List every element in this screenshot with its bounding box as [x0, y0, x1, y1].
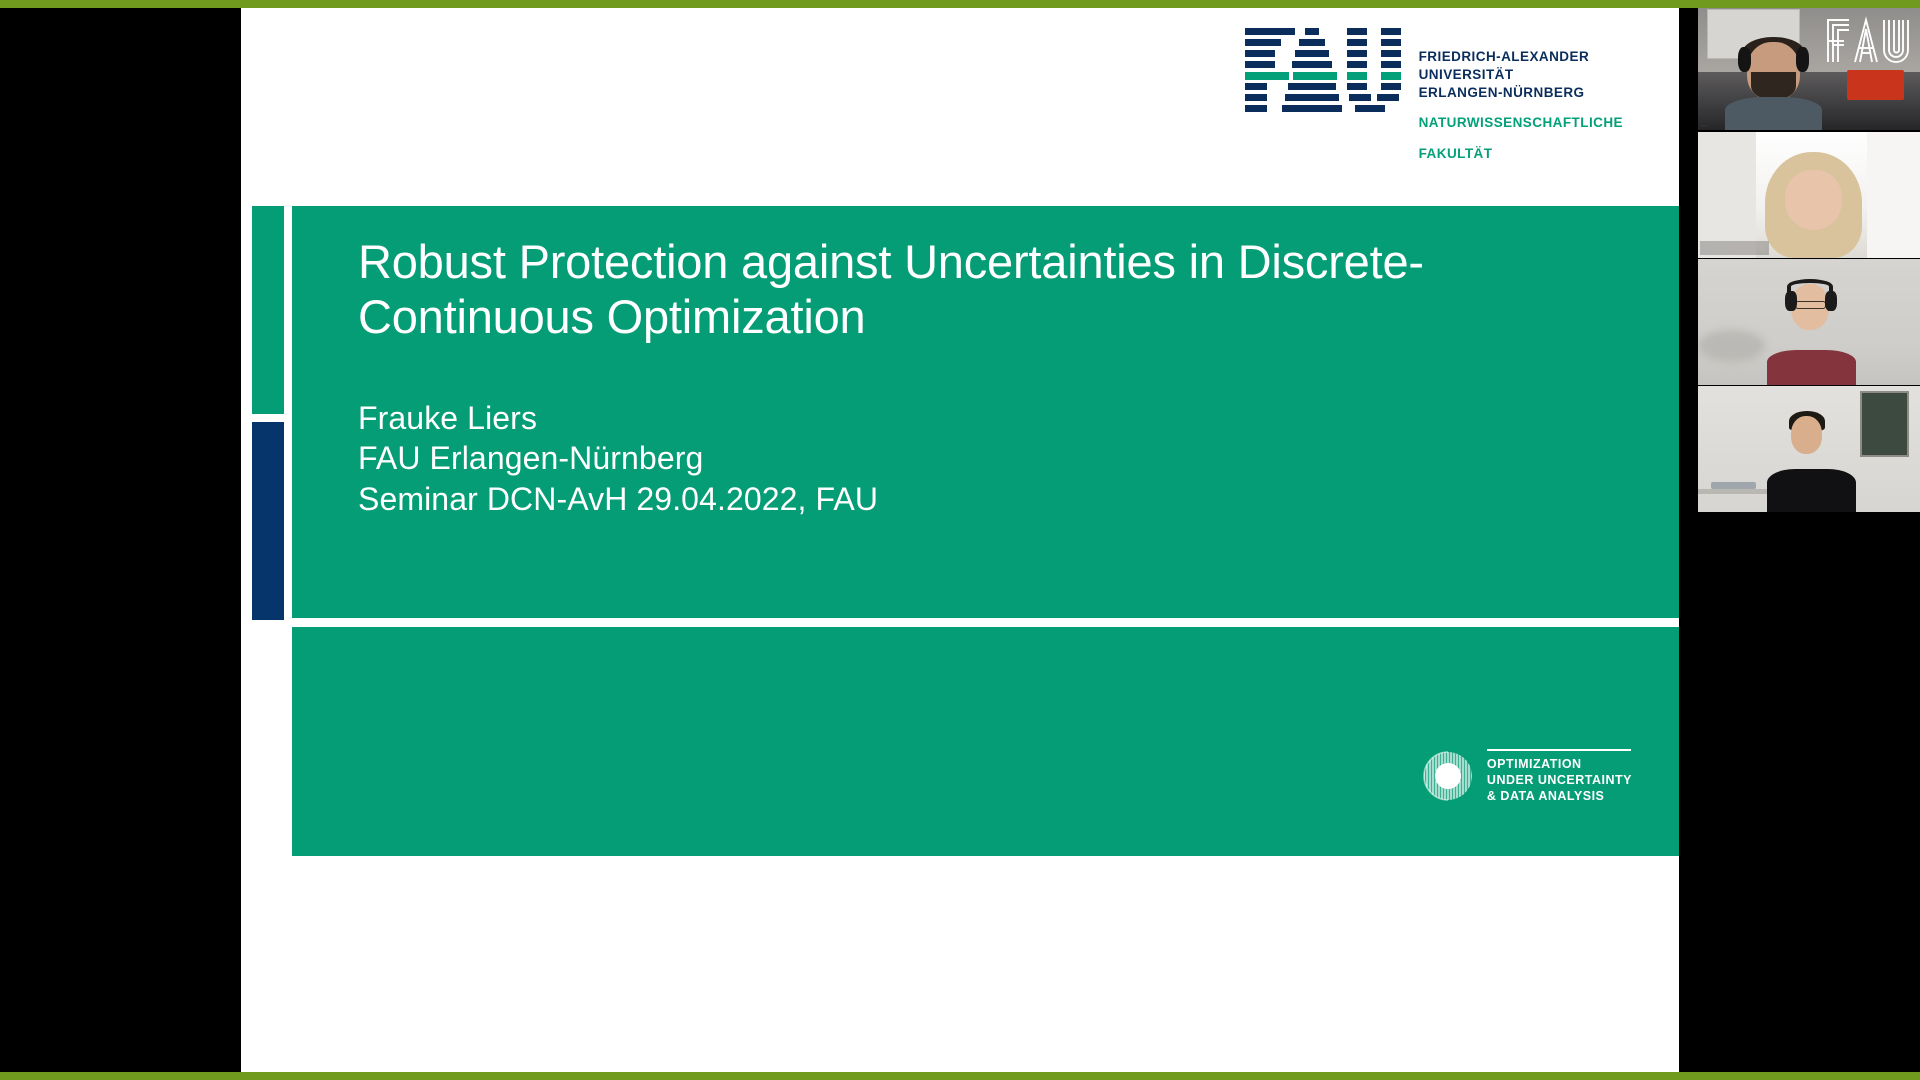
presenter-affiliation: FAU Erlangen-Nürnberg — [358, 438, 878, 478]
fau-faculty-line-1: NATURWISSENSCHAFTLICHE — [1419, 114, 1623, 132]
ouuda-line-3: & DATA ANALYSIS — [1487, 788, 1632, 804]
accent-bar-green — [252, 206, 284, 414]
window-border-top — [0, 0, 1920, 8]
ouuda-circle-icon — [1422, 750, 1474, 802]
slide-title-line-2: Continuous Optimization — [358, 289, 1643, 344]
ouuda-divider — [1487, 749, 1631, 751]
presentation-slide[interactable]: FRIEDRICH-ALEXANDER UNIVERSITÄT ERLANGEN… — [241, 8, 1679, 1072]
participant-name-label: Frauke Liers — [1700, 241, 1769, 255]
fau-striped-logo-icon — [1243, 26, 1405, 122]
fau-wordmark-line-2: UNIVERSITÄT — [1419, 66, 1623, 84]
presenter-name: Frauke Liers — [358, 398, 878, 438]
event-details: Seminar DCN-AvH 29.04.2022, FAU — [358, 479, 878, 519]
ouuda-wordmark: OPTIMIZATION UNDER UNCERTAINTY & DATA AN… — [1487, 747, 1632, 804]
participant-tile-4[interactable] — [1698, 386, 1920, 512]
participant-name-label — [1700, 125, 1708, 127]
slide-title-block: Robust Protection against Uncertainties … — [358, 234, 1643, 345]
fau-wordmark-line-3: ERLANGEN-NÜRNBERG — [1419, 84, 1623, 102]
participant-video-rail: Frauke Liers — [1698, 0, 1920, 1080]
participant-tile-1[interactable] — [1698, 4, 1920, 130]
screen-root: FRIEDRICH-ALEXANDER UNIVERSITÄT ERLANGEN… — [0, 0, 1920, 1080]
slide-author-block: Frauke Liers FAU Erlangen-Nürnberg Semin… — [358, 398, 878, 519]
participant-video-feed — [1698, 386, 1920, 512]
fau-logo: FRIEDRICH-ALEXANDER UNIVERSITÄT ERLANGEN… — [1243, 26, 1623, 163]
fau-wordmark-line-1: FRIEDRICH-ALEXANDER — [1419, 48, 1623, 66]
ouuda-line-2: UNDER UNCERTAINTY — [1487, 772, 1632, 788]
participant-tile-3[interactable] — [1698, 259, 1920, 385]
fau-faculty-line-2: FAKULTÄT — [1419, 145, 1623, 163]
slide-header: FRIEDRICH-ALEXANDER UNIVERSITÄT ERLANGEN… — [241, 8, 1679, 206]
accent-bar-navy — [252, 422, 284, 620]
fau-watermark-icon — [1822, 12, 1914, 66]
fau-wordmark: FRIEDRICH-ALEXANDER UNIVERSITÄT ERLANGEN… — [1419, 26, 1623, 163]
ouuda-logo: OPTIMIZATION UNDER UNCERTAINTY & DATA AN… — [1422, 747, 1632, 804]
participant-tile-2[interactable]: Frauke Liers — [1698, 132, 1920, 258]
content-panel: OPTIMIZATION UNDER UNCERTAINTY & DATA AN… — [292, 627, 1679, 856]
title-panel: Robust Protection against Uncertainties … — [292, 206, 1679, 618]
slide-title-line-1: Robust Protection against Uncertainties … — [358, 234, 1643, 289]
participant-video-feed — [1698, 132, 1920, 258]
participant-video-feed — [1698, 259, 1920, 385]
window-border-bottom — [0, 1072, 1920, 1080]
ouuda-line-1: OPTIMIZATION — [1487, 756, 1632, 772]
